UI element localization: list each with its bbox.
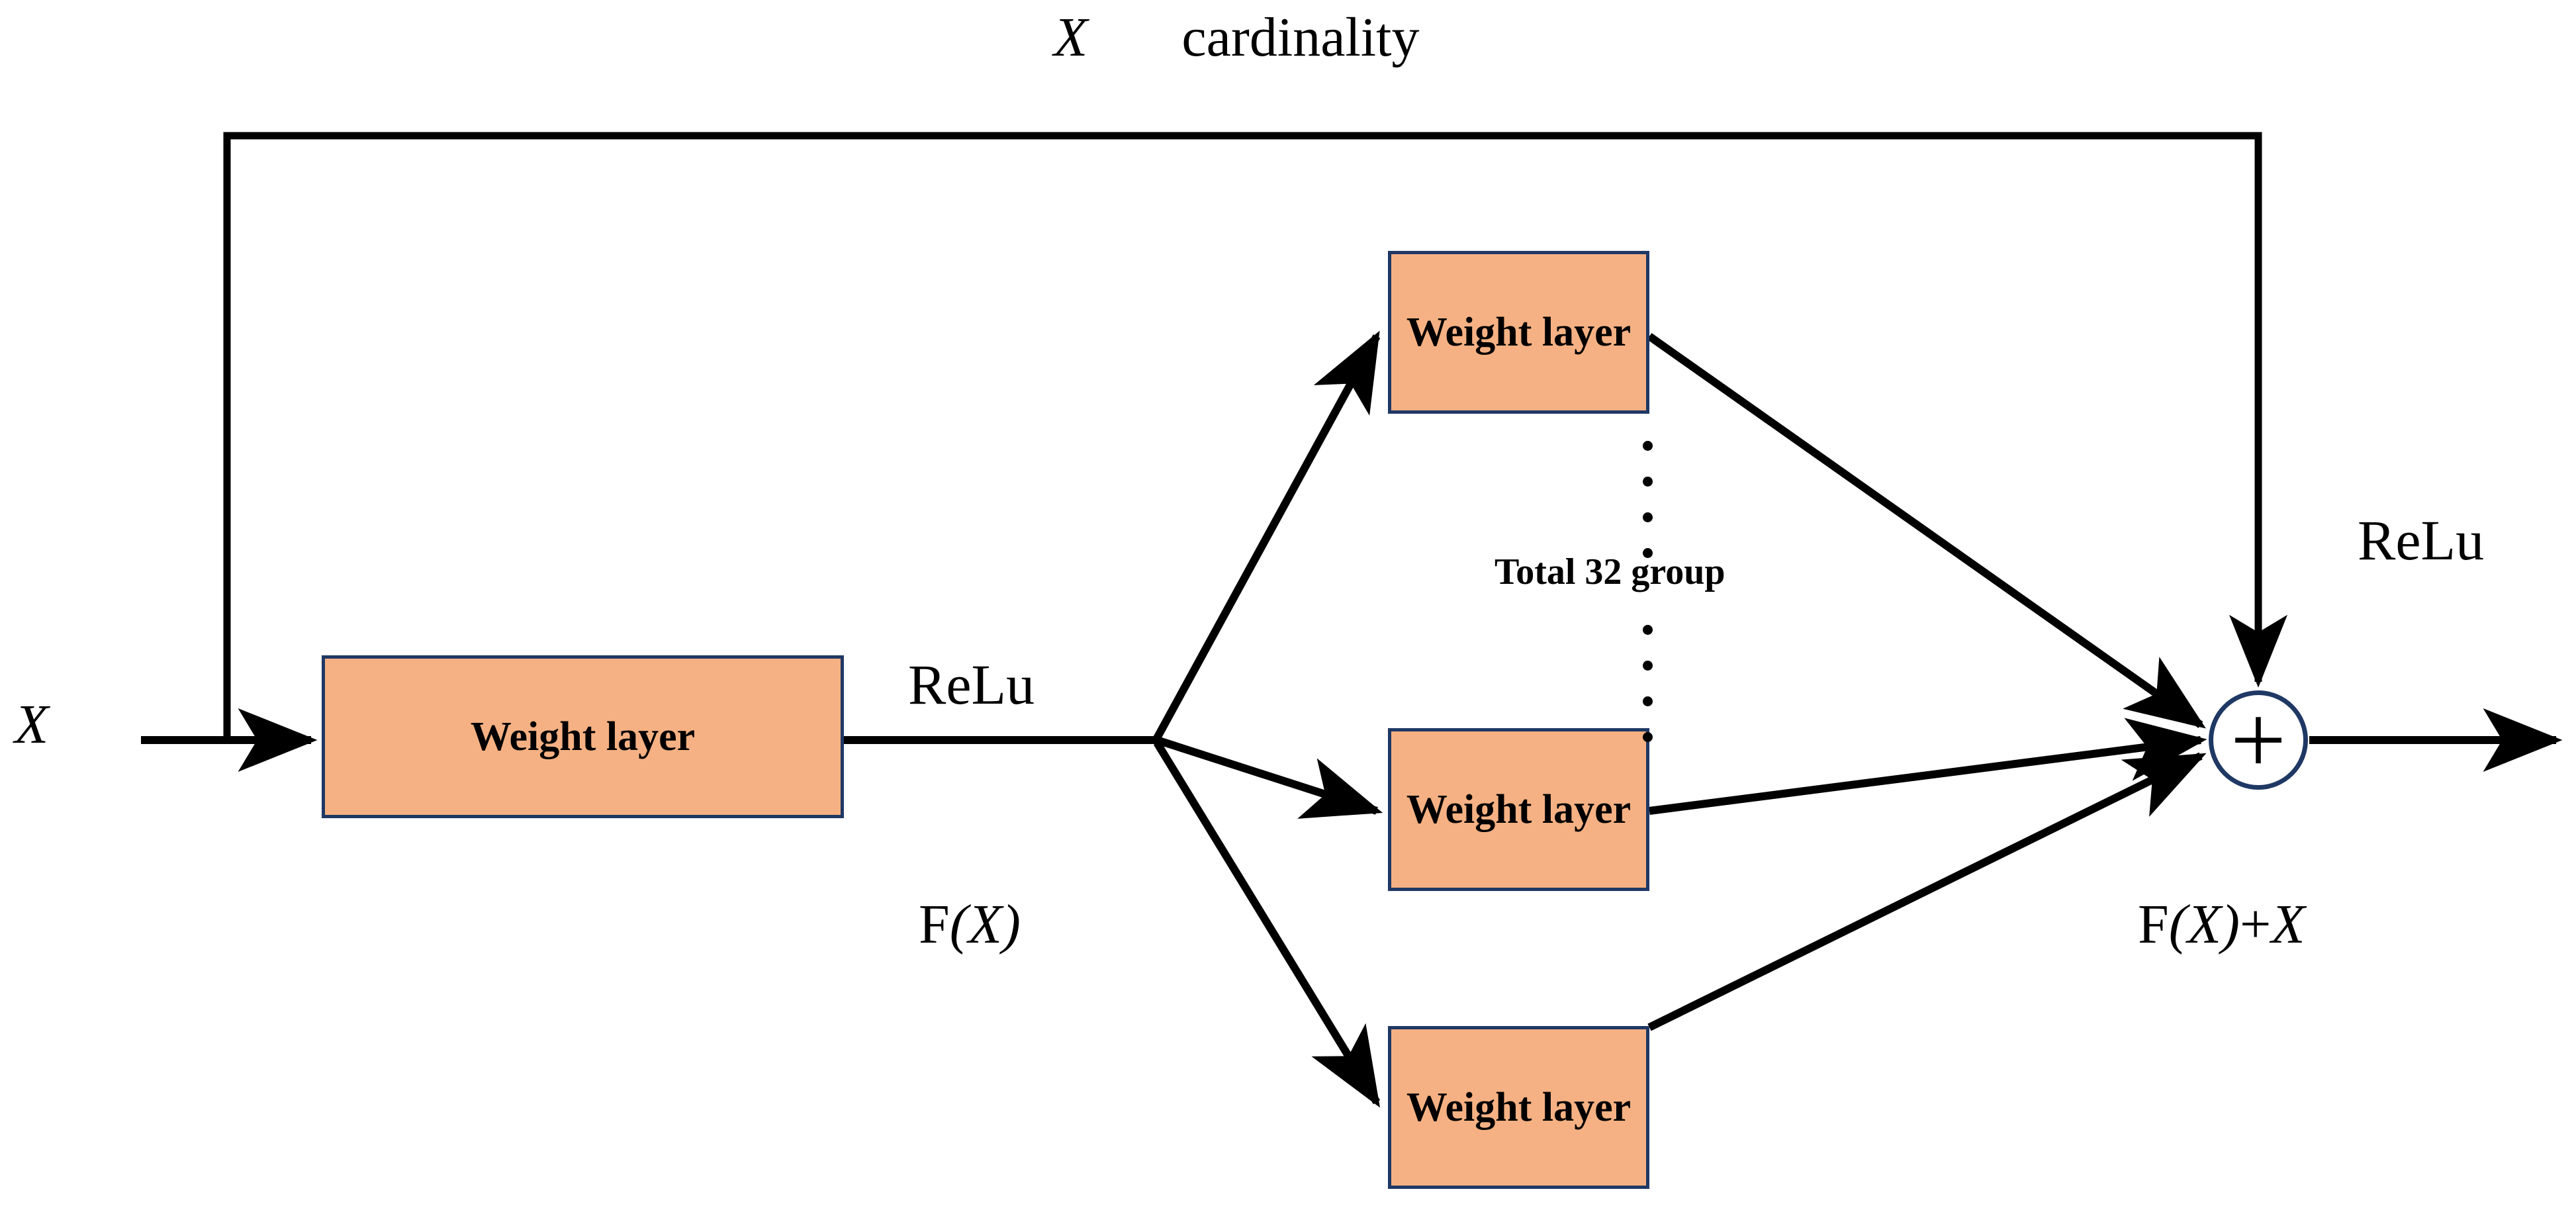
- residual-function-f: F: [919, 894, 950, 955]
- residual-function-label: F(X): [919, 892, 1021, 957]
- cardinality-annotation: X cardinality: [1054, 5, 1420, 70]
- input-label: X: [15, 692, 48, 757]
- relu-label-left: ReLu: [908, 651, 1035, 718]
- skip-connection-path: [227, 136, 2258, 740]
- group-weight-layer-block-1[interactable]: Weight layer: [1388, 251, 1649, 414]
- cardinality-word: cardinality: [1181, 7, 1419, 68]
- ellipsis-dot: [1643, 477, 1653, 487]
- ellipsis-dot: [1643, 512, 1653, 522]
- relu-label-right: ReLu: [2358, 507, 2484, 573]
- output-arg: (X): [2169, 894, 2240, 955]
- output-label: F(X)+X: [2138, 892, 2305, 957]
- group-count-note: Total 32 group: [1495, 551, 1725, 593]
- group-weight-layer-label: Weight layer: [1406, 786, 1631, 833]
- ellipsis-dot: [1643, 625, 1653, 635]
- ellipsis-dots-below: [1643, 625, 1653, 742]
- cardinality-symbol: X: [1054, 7, 1087, 68]
- output-x: X: [2271, 894, 2305, 955]
- ellipsis-dot: [1643, 696, 1653, 706]
- ellipsis-dot: [1643, 661, 1653, 671]
- diagram-canvas: X cardinality X Weight layer ReLu F(X) W…: [0, 0, 2576, 1218]
- connector-lines: [0, 0, 2576, 1218]
- merge-arrow-top: [1649, 336, 2201, 725]
- ellipsis-dots-above: [1643, 441, 1653, 558]
- plus-icon: +: [2209, 690, 2308, 790]
- output-f: F: [2138, 894, 2169, 955]
- ellipsis-dot: [1643, 732, 1653, 742]
- residual-function-arg: (X): [950, 894, 1021, 955]
- stem-weight-layer-label: Weight layer: [471, 714, 695, 761]
- output-plus: +: [2240, 894, 2271, 955]
- stem-weight-layer-block[interactable]: Weight layer: [322, 655, 844, 818]
- ellipsis-dot: [1643, 441, 1653, 451]
- group-weight-layer-label: Weight layer: [1406, 309, 1631, 356]
- group-weight-layer-label: Weight layer: [1406, 1084, 1631, 1131]
- branch-arrow-top: [1157, 336, 1377, 738]
- group-weight-layer-block-2[interactable]: Weight layer: [1388, 728, 1649, 891]
- group-weight-layer-block-3[interactable]: Weight layer: [1388, 1026, 1649, 1189]
